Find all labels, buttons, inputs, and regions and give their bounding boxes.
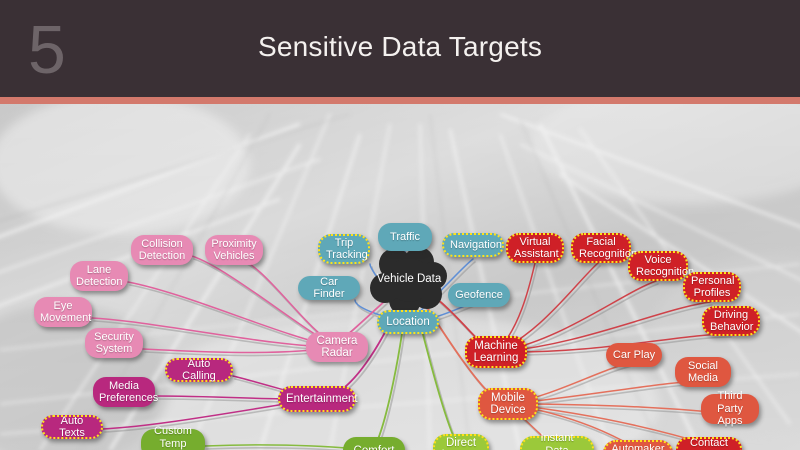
node-label: Trip Tracking <box>326 237 362 262</box>
node-machine-learning-2[interactable]: Facial Recognition <box>571 233 631 263</box>
node-label: Lane Detection <box>76 264 122 289</box>
node-label: Auto Calling <box>173 358 225 383</box>
node-label: Auto Texts <box>49 415 95 440</box>
node-label: Media Preferences <box>99 380 149 405</box>
node-label: Camera Radar <box>312 335 362 360</box>
node-label: Proximity Vehicles <box>211 238 257 263</box>
node-mobile-device-3[interactable]: Third Party Apps <box>701 394 759 424</box>
node-label: Facial Recognition <box>579 236 623 261</box>
center-node-vehicle-data[interactable]: Vehicle Data <box>367 242 451 316</box>
node-location-1[interactable]: Trip Tracking <box>318 234 370 264</box>
node-mobile-device-1[interactable]: Car Play <box>606 343 662 367</box>
hub-node-camera-radar[interactable]: Camera Radar <box>306 332 368 362</box>
node-machine-learning-3[interactable]: Voice Recognition <box>628 251 688 281</box>
node-camera-radar-3[interactable]: Lane Detection <box>70 261 128 291</box>
center-node-label: Vehicle Data <box>377 273 442 286</box>
node-label: Comfort <box>349 445 399 450</box>
node-location-3[interactable]: Navigation <box>442 233 504 257</box>
accent-stripe <box>0 97 800 104</box>
node-camera-radar-5[interactable]: Security System <box>85 328 143 358</box>
node-camera-radar-2[interactable]: Proximity Vehicles <box>205 235 263 265</box>
node-label: Car Finder <box>304 276 354 301</box>
node-mobile-device-6[interactable]: Instant Data Transmissions <box>520 436 594 450</box>
node-entertainment-2[interactable]: Media Preferences <box>93 377 155 407</box>
node-location-5[interactable]: Geofence <box>448 283 510 307</box>
node-label: Third Party Apps <box>707 390 753 428</box>
slide: 5 Sensitive Data Targets <box>0 0 800 450</box>
node-machine-learning-1[interactable]: Virtual Assistant <box>506 233 564 263</box>
hub-node-location[interactable]: Location <box>377 310 439 334</box>
node-mobile-device-2[interactable]: Social Media <box>675 357 731 387</box>
node-label: Eye Movement <box>40 300 86 325</box>
node-label: Collision Detection <box>137 238 187 263</box>
node-label: Automaker Application <box>611 443 665 450</box>
node-label: Instant Data Transmissions <box>528 432 586 450</box>
node-label: Machine Learning <box>473 340 519 365</box>
node-label: Custom Temp Zones <box>147 425 199 450</box>
page-title: Sensitive Data Targets <box>0 31 800 63</box>
mindmap-nodes: Vehicle Data Camera RadarCollision Detec… <box>0 104 800 450</box>
node-label: Security System <box>91 331 137 356</box>
hub-node-entertainment[interactable]: Entertainment <box>278 386 356 412</box>
mindmap-canvas: Vehicle Data Camera RadarCollision Detec… <box>0 104 800 450</box>
node-label: Personal Profiles <box>691 275 733 300</box>
node-label: Location <box>385 316 431 329</box>
node-label: Traffic <box>384 231 426 244</box>
node-label: Social Media <box>681 360 725 385</box>
node-label: Entertainment <box>286 393 348 406</box>
node-entertainment-3[interactable]: Auto Texts <box>41 415 103 439</box>
node-location-4[interactable]: Car Finder <box>298 276 360 300</box>
node-camera-radar-1[interactable]: Collision Detection <box>131 235 193 265</box>
node-mobile-device-4[interactable]: Automaker Application <box>603 440 673 450</box>
node-label: Voice Recognition <box>636 254 680 279</box>
node-camera-radar-4[interactable]: Eye Movement <box>34 297 92 327</box>
node-label: Mobile Device <box>486 392 530 417</box>
hub-node-direct-internet[interactable]: Direct Internet <box>433 434 489 450</box>
hub-node-machine-learning[interactable]: Machine Learning <box>465 336 527 368</box>
node-label: Navigation <box>450 239 496 252</box>
slide-header: 5 Sensitive Data Targets <box>0 0 800 97</box>
node-machine-learning-5[interactable]: Driving Behavior <box>702 306 760 336</box>
node-label: Virtual Assistant <box>514 236 556 261</box>
hub-node-mobile-device[interactable]: Mobile Device <box>478 388 538 420</box>
node-label: Geofence <box>454 289 504 302</box>
node-location-2[interactable]: Traffic <box>378 223 432 251</box>
node-mobile-device-5[interactable]: Contact List <box>676 437 742 450</box>
node-machine-learning-4[interactable]: Personal Profiles <box>683 272 741 302</box>
hub-node-comfort[interactable]: Comfort <box>343 437 405 450</box>
node-label: Car Play <box>612 349 656 362</box>
node-comfort-1[interactable]: Custom Temp Zones <box>141 429 205 450</box>
node-entertainment-1[interactable]: Auto Calling <box>165 358 233 382</box>
node-label: Contact List <box>684 437 734 450</box>
node-label: Direct Internet <box>441 437 481 450</box>
node-label: Driving Behavior <box>710 309 752 334</box>
